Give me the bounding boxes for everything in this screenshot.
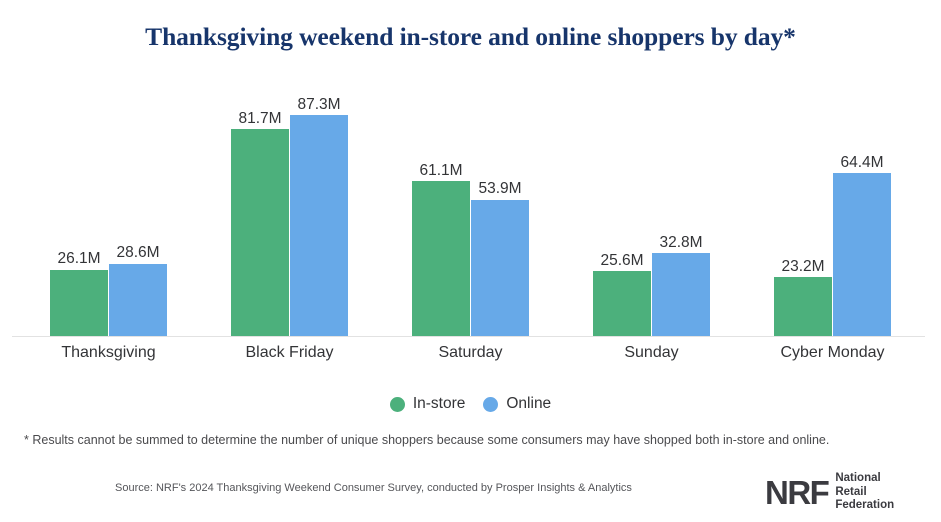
bar-instore[interactable]: 61.1M — [412, 181, 470, 336]
bar-online[interactable]: 53.9M — [471, 200, 529, 336]
nrf-logo-line-1: National — [835, 472, 894, 486]
nrf-logo: NRF National Retail Federation — [765, 472, 894, 513]
circle-icon — [390, 397, 405, 412]
category-label-black-friday: Black Friday — [200, 344, 380, 362]
bar-value-label: 61.1M — [419, 163, 462, 179]
bar-value-label: 64.4M — [840, 155, 883, 171]
legend-label-instore: In-store — [413, 395, 466, 413]
bar-value-label: 81.7M — [238, 111, 281, 127]
legend-label-online: Online — [506, 395, 551, 413]
bar-value-label: 32.8M — [659, 235, 702, 251]
bar-value-label: 53.9M — [478, 181, 521, 197]
source-text: Source: NRF's 2024 Thanksgiving Weekend … — [115, 482, 632, 494]
bar-online[interactable]: 32.8M — [652, 253, 710, 336]
bar-online[interactable]: 64.4M — [833, 173, 891, 336]
x-axis-baseline — [12, 336, 925, 337]
bar-value-label: 25.6M — [600, 253, 643, 269]
nrf-logo-line-3: Federation — [835, 499, 894, 513]
bar-instore[interactable]: 25.6M — [593, 271, 651, 336]
footnote-text: * Results cannot be summed to determine … — [24, 433, 924, 447]
legend-item-instore[interactable]: In-store — [390, 395, 466, 413]
bar-instore[interactable]: 26.1M — [50, 270, 108, 336]
bar-online[interactable]: 87.3M — [290, 115, 348, 336]
legend-item-online[interactable]: Online — [483, 395, 551, 413]
nrf-wordmark: NRF — [765, 476, 828, 509]
bar-instore[interactable]: 81.7M — [231, 129, 289, 336]
chart-legend: In-store Online — [0, 395, 941, 413]
bar-value-label: 87.3M — [297, 97, 340, 113]
circle-icon — [483, 397, 498, 412]
bar-instore[interactable]: 23.2M — [774, 277, 832, 336]
bar-value-label: 28.6M — [116, 245, 159, 261]
category-label-saturday: Saturday — [381, 344, 561, 362]
bar-online[interactable]: 28.6M — [109, 264, 167, 336]
bar-value-label: 26.1M — [57, 251, 100, 267]
nrf-logo-line-2: Retail — [835, 486, 894, 500]
category-label-thanksgiving: Thanksgiving — [19, 344, 199, 362]
bar-value-label: 23.2M — [781, 259, 824, 275]
category-label-sunday: Sunday — [562, 344, 742, 362]
nrf-logo-text: National Retail Federation — [835, 472, 894, 513]
category-label-cyber-monday: Cyber Monday — [743, 344, 923, 362]
